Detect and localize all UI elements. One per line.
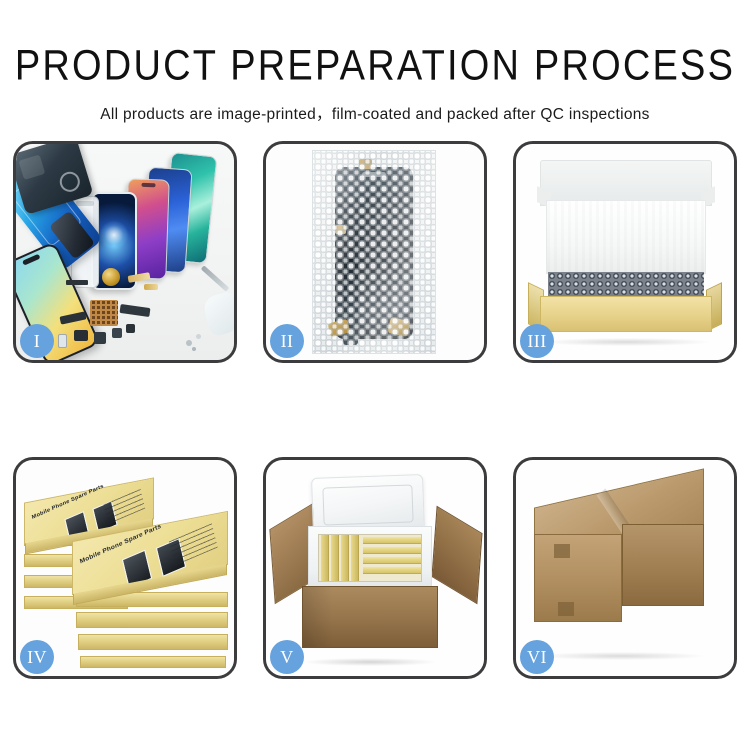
small-component — [74, 330, 88, 341]
box-edge — [78, 634, 228, 650]
gold-connector-part — [144, 284, 158, 290]
yellow-box — [363, 547, 421, 554]
sim-tray-part — [58, 334, 67, 348]
white-foam-sheet — [546, 200, 706, 274]
screw-part — [192, 347, 196, 351]
step-badge-5: V — [270, 640, 304, 674]
step-badge-3: III — [520, 324, 554, 358]
page-title: PRODUCT PREPARATION PROCESS — [0, 45, 750, 88]
box-edge — [76, 612, 228, 628]
step-badge-6: VI — [520, 640, 554, 674]
step-number-label: IV — [27, 648, 47, 666]
open-kraft-box-photo — [516, 144, 734, 360]
step-panel-4: Mobile Phone Spare Parts Mobile Phone Sp… — [13, 457, 237, 679]
step-badge-1: I — [20, 324, 54, 358]
packed-yellow-boxes — [318, 534, 422, 582]
carton-side-face — [622, 524, 704, 606]
plastic-sheen — [313, 151, 435, 353]
bubble-wrap-bag — [312, 150, 436, 354]
battery-strip-part — [66, 280, 88, 285]
screw-part — [196, 334, 201, 339]
sealed-carton-photo — [516, 460, 734, 676]
step-number-label: I — [34, 332, 40, 350]
packing-tape — [558, 602, 574, 616]
stacked-retail-boxes-photo: Mobile Phone Spare Parts Mobile Phone Sp… — [16, 460, 234, 676]
box-edge — [80, 656, 226, 668]
screw-part — [186, 340, 192, 346]
yellow-box — [363, 537, 421, 544]
drop-shadow — [304, 658, 436, 666]
page-subtitle: All products are image-printed，film-coat… — [0, 102, 750, 124]
carton-with-cooler-photo — [266, 460, 484, 676]
yellow-box — [331, 535, 339, 581]
spec-label — [168, 521, 217, 566]
box-front-panel — [540, 296, 712, 332]
flex-cable-part — [120, 304, 151, 317]
step-number-label: VI — [527, 648, 547, 666]
step-badge-2: II — [270, 324, 304, 358]
spec-label — [103, 486, 145, 524]
product-components-photo — [16, 144, 234, 360]
yellow-box — [363, 557, 421, 564]
chip-grid-part — [90, 300, 118, 326]
yellow-box — [351, 535, 359, 581]
yellow-box — [341, 535, 349, 581]
packing-tape — [554, 544, 570, 558]
drop-shadow — [542, 338, 710, 346]
drop-shadow — [538, 652, 704, 660]
carton-body — [302, 586, 438, 648]
product-preparation-infographic: PRODUCT PREPARATION PROCESS All products… — [0, 0, 750, 750]
bubble-wrap-layer — [548, 272, 704, 298]
process-steps-grid: I II — [13, 141, 737, 686]
step-number-label: V — [280, 648, 293, 666]
step-panel-1: I — [13, 141, 237, 363]
step-panel-2: II — [263, 141, 487, 363]
header: PRODUCT PREPARATION PROCESS All products… — [0, 0, 750, 124]
carton-flap-right — [431, 506, 482, 605]
bubble-wrapped-screen-photo — [266, 144, 484, 360]
notch-icon — [141, 183, 155, 187]
small-component — [126, 324, 135, 333]
step-panel-6: VI — [513, 457, 737, 679]
step-panel-3: III — [513, 141, 737, 363]
small-component — [112, 328, 122, 338]
step-panel-5: V — [263, 457, 487, 679]
tweezers-icon — [201, 265, 230, 291]
small-component — [94, 332, 106, 344]
step-number-label: II — [281, 332, 294, 350]
speaker-coil-part — [102, 268, 120, 286]
step-badge-4: IV — [20, 640, 54, 674]
box-stack: Mobile Phone Spare Parts Mobile Phone Sp… — [22, 476, 230, 662]
notch-icon — [22, 254, 40, 266]
hand-tool — [202, 291, 234, 338]
yellow-box — [321, 535, 329, 581]
yellow-box — [363, 567, 421, 574]
step-number-label: III — [527, 332, 546, 350]
carton-front-face — [534, 534, 622, 622]
